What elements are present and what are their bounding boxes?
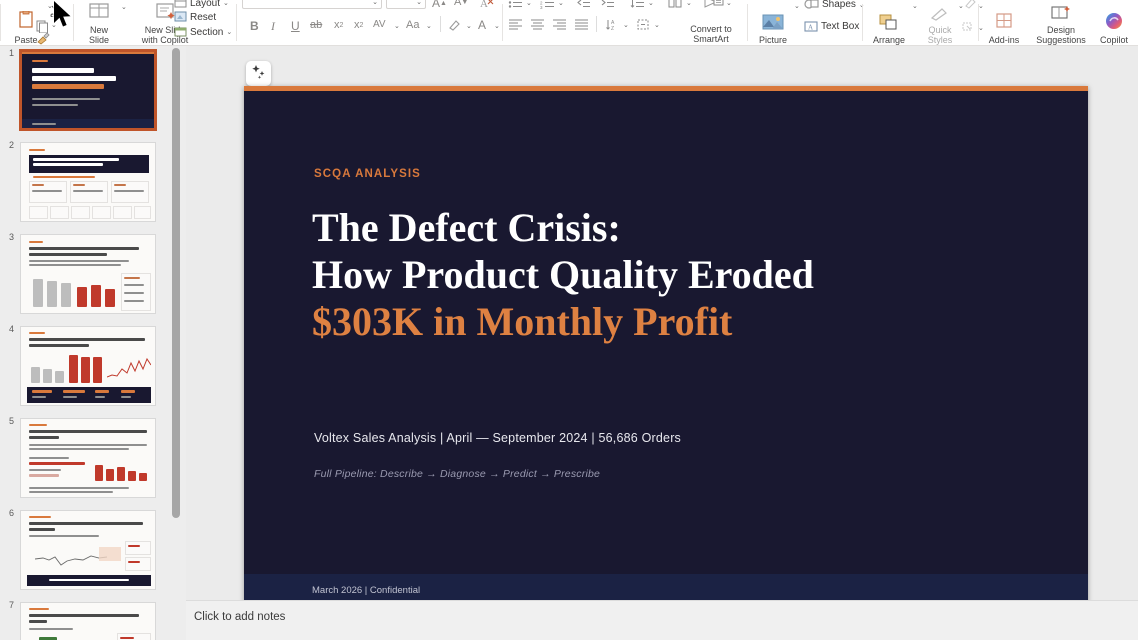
ribbon-separator [862, 4, 863, 41]
new-slide-label-1: New [90, 25, 108, 35]
thumbnail-row[interactable]: 5 [0, 414, 186, 506]
svg-text:A: A [480, 0, 488, 10]
headline-line-2: How Product Quality Eroded [312, 251, 1052, 298]
thumbnail-row[interactable]: 4 [0, 322, 186, 414]
new-slide-button[interactable]: New Slide [78, 0, 120, 45]
new-slide-copilot-icon [154, 3, 176, 23]
ribbon-group-font: ⌄ ⌄ A▲ A▼ A B I U ab x2 x2 AV ⌄ Aa ⌄ [242, 0, 498, 45]
notes-pane[interactable]: Click to add notes [186, 600, 1138, 640]
thumbnail-number: 1 [2, 48, 14, 58]
line-spacing-chevron-icon[interactable]: ⌄ [648, 0, 654, 7]
quick-styles-icon [929, 6, 951, 23]
new-slide-chevron-icon[interactable]: ⌄ [121, 3, 127, 11]
section-label: Section [190, 27, 223, 38]
ribbon-group-designer: Design Suggestions [1032, 0, 1138, 45]
shapes-icon [804, 0, 819, 11]
decrease-indent-icon[interactable] [576, 0, 591, 9]
ribbon-separator [502, 4, 503, 41]
strikethrough-button[interactable]: ab [310, 19, 322, 31]
italic-button[interactable]: I [271, 19, 275, 34]
svg-text:3: 3 [540, 5, 543, 9]
layout-chevron-icon[interactable]: ⌄ [223, 0, 229, 7]
font-color-chevron-icon[interactable]: ⌄ [494, 22, 500, 30]
picture-button[interactable]: Picture [754, 0, 792, 45]
convert-to-smartart-button[interactable]: Convert to SmartArt [678, 12, 744, 44]
sort-icon[interactable]: AZ [605, 18, 620, 31]
cut-icon[interactable] [50, 5, 62, 17]
notes-placeholder: Click to add notes [194, 611, 285, 623]
ribbon-group-drawing: Arrange ⌄ Quick Styles ⌄ ⌄ ⌄ [868, 0, 978, 45]
copilot-label: Copilot [1100, 35, 1128, 45]
thumbnail-row[interactable]: 2 [0, 138, 186, 230]
add-ins-label: Add-ins [989, 35, 1020, 45]
thumbnail-row[interactable]: 1 [0, 46, 186, 138]
add-ins-icon [994, 13, 1014, 33]
thumbnail-content [21, 419, 155, 497]
quick-styles-label-2: Styles [928, 35, 953, 45]
slide-footer-text: March 2026 | Confidential [312, 585, 420, 596]
arrange-icon [878, 14, 900, 33]
increase-indent-icon[interactable] [600, 0, 615, 9]
svg-text:A: A [808, 24, 813, 32]
slide-headline[interactable]: The Defect Crisis: How Product Quality E… [312, 204, 1052, 345]
layout-label: Layout [190, 0, 220, 9]
slide-thumbnail-3[interactable] [20, 234, 156, 314]
section-icon [174, 26, 187, 38]
align-text-chevron-icon[interactable]: ⌄ [654, 21, 660, 29]
designer-sparkle-icon [251, 64, 266, 84]
bold-button[interactable]: B [250, 19, 259, 33]
thumbnail-number: 5 [2, 416, 14, 426]
highlighter-icon[interactable] [448, 18, 462, 31]
ribbon-group-clipboard: Paste ⌄ ⌄ [0, 0, 70, 45]
quick-styles-label-1: Quick [928, 25, 951, 35]
design-suggestions-label-1: Design [1047, 25, 1075, 35]
highlight-chevron-icon[interactable]: ⌄ [466, 22, 472, 30]
ribbon-separator [0, 4, 1, 41]
slide-thumbnail-7[interactable] [20, 602, 156, 640]
align-right-icon[interactable] [552, 18, 567, 31]
thumbnail-number: 4 [2, 324, 14, 334]
thumbnail-number: 6 [2, 508, 14, 518]
ribbon-separator [747, 4, 748, 41]
thumbnail-content [21, 511, 155, 589]
convert-smartart-label-2: SmartArt [693, 34, 729, 44]
slide-thumbnail-pane[interactable]: 1 2 [0, 46, 186, 640]
headline-line-1: The Defect Crisis: [312, 204, 1052, 251]
slide-thumbnail-5[interactable] [20, 418, 156, 498]
arrange-button[interactable]: Arrange [868, 0, 910, 45]
thumbnail-content [21, 235, 155, 313]
slide-thumbnail-4[interactable] [20, 326, 156, 406]
thumbnail-content [22, 52, 154, 128]
paste-icon [16, 11, 36, 33]
ribbon-separator [978, 4, 979, 41]
reset-label: Reset [190, 12, 216, 23]
shape-effects-icon[interactable] [961, 21, 975, 33]
thumbnail-row[interactable]: 6 [0, 506, 186, 598]
quick-styles-button[interactable]: Quick Styles [920, 0, 960, 45]
designer-sparkle-button[interactable] [246, 61, 271, 86]
line-spacing-icon[interactable] [630, 0, 645, 9]
shapes-button[interactable]: Shapes ⌄ [804, 0, 865, 11]
align-left-icon[interactable] [508, 18, 523, 31]
text-box-button[interactable]: A Text Box [804, 20, 859, 33]
thumbnail-number: 7 [2, 600, 14, 610]
text-box-label: Text Box [821, 21, 859, 32]
copilot-button[interactable]: Copilot [1092, 0, 1136, 45]
numbering-chevron-icon[interactable]: ⌄ [558, 0, 564, 7]
text-direction-icon[interactable] [704, 0, 724, 10]
copy-icon[interactable] [36, 20, 49, 33]
text-direction-chevron-icon[interactable]: ⌄ [726, 0, 732, 7]
thumbnail-row[interactable]: 7 [0, 598, 186, 640]
slide-thumbnail-2[interactable] [20, 142, 156, 222]
slide-pipeline: Full Pipeline: Describe → Diagnose → Pre… [314, 468, 600, 480]
reset-icon [174, 11, 187, 23]
font-name-chevron-icon[interactable]: ⌄ [372, 0, 378, 6]
ribbon-separator [236, 4, 237, 41]
convert-smartart-label-1: Convert to [690, 24, 732, 34]
thumbnail-number: 2 [2, 140, 14, 150]
bullets-chevron-icon[interactable]: ⌄ [526, 0, 532, 7]
shrink-font-icon[interactable]: A▼ [454, 0, 468, 8]
font-size-chevron-icon[interactable]: ⌄ [416, 0, 422, 6]
design-suggestions-icon [1050, 5, 1072, 23]
layout-icon [174, 0, 187, 9]
thumbnail-number: 3 [2, 232, 14, 242]
slide-edit-pane: SCQA ANALYSIS The Defect Crisis: How Pro… [186, 46, 1138, 600]
svg-text:Z: Z [611, 26, 614, 31]
picture-chevron-icon[interactable]: ⌄ [794, 2, 800, 10]
clear-formatting-icon[interactable]: A [480, 0, 495, 10]
sort-chevron-icon[interactable]: ⌄ [623, 21, 629, 29]
grow-font-icon[interactable]: A▲ [432, 0, 447, 10]
design-suggestions-button[interactable]: Design Suggestions [1032, 0, 1090, 45]
ribbon-toolbar: Paste ⌄ ⌄ [0, 0, 1138, 46]
ribbon-separator [73, 4, 74, 41]
shapes-label: Shapes [822, 0, 856, 10]
paste-label: Paste [14, 35, 37, 45]
headline-line-3: $303K in Monthly Profit [312, 298, 1052, 345]
font-size-input[interactable]: ⌄ [386, 0, 426, 9]
shape-fill-chevron-icon[interactable]: ⌄ [958, 2, 964, 10]
text-box-icon: A [804, 20, 818, 33]
font-color-button[interactable]: A [478, 18, 486, 32]
subscript-button[interactable]: x2 [354, 19, 363, 31]
change-case-button[interactable]: Aa [406, 19, 419, 31]
slide-eyebrow: SCQA ANALYSIS [314, 168, 421, 180]
numbered-list-icon[interactable]: 123 [540, 0, 555, 9]
copy-chevron-icon[interactable]: ⌄ [51, 21, 57, 29]
reset-button[interactable]: Reset [174, 11, 216, 23]
copilot-icon [1103, 11, 1125, 33]
character-spacing-chevron-icon[interactable]: ⌄ [394, 22, 400, 30]
superscript-button[interactable]: x2 [334, 19, 343, 31]
align-text-icon[interactable] [636, 18, 651, 31]
slide-thumbnail-6[interactable] [20, 510, 156, 590]
format-painter-icon[interactable] [36, 33, 50, 45]
underline-button[interactable]: U [291, 19, 300, 33]
thumbnail-content [21, 603, 155, 640]
shape-outline-icon[interactable] [964, 0, 977, 9]
change-case-chevron-icon[interactable]: ⌄ [426, 22, 432, 30]
align-center-icon[interactable] [530, 18, 545, 31]
slide-thumbnail-1[interactable] [20, 50, 156, 130]
columns-chevron-icon[interactable]: ⌄ [686, 0, 692, 7]
layout-button[interactable]: Layout ⌄ [174, 0, 229, 9]
new-slide-icon [88, 3, 110, 23]
bullet-list-icon[interactable] [508, 0, 523, 9]
new-slide-label-2: Slide [89, 35, 109, 45]
arrange-chevron-icon[interactable]: ⌄ [912, 2, 918, 10]
picture-label: Picture [759, 35, 787, 45]
thumbnail-content [21, 327, 155, 405]
section-chevron-icon[interactable]: ⌄ [226, 28, 232, 36]
design-suggestions-label-2: Suggestions [1036, 35, 1086, 45]
slide-canvas[interactable]: SCQA ANALYSIS The Defect Crisis: How Pro… [244, 86, 1088, 610]
ribbon-group-addins: Add-ins [982, 0, 1026, 45]
ribbon-group-paragraph: ⌄ 123 ⌄ ⌄ ⌄ ⌄ [508, 0, 748, 45]
slide-meta: Voltex Sales Analysis | April — Septembe… [314, 431, 681, 445]
thumbnail-row[interactable]: 3 [0, 230, 186, 322]
section-button[interactable]: Section ⌄ [174, 26, 232, 38]
add-ins-button[interactable]: Add-ins [982, 0, 1026, 45]
picture-icon [762, 14, 784, 33]
powerpoint-window: Paste ⌄ ⌄ [0, 0, 1138, 640]
columns-icon[interactable] [668, 0, 683, 9]
font-name-input[interactable]: ⌄ [242, 0, 382, 9]
thumbnail-content [21, 143, 155, 221]
arrange-label: Arrange [873, 35, 905, 45]
slide-accent-bar [244, 86, 1088, 91]
ribbon-group-insert: Picture ⌄ Shapes ⌄ A Text Box [754, 0, 864, 45]
ribbon-group-slides: New Slide ⌄ New Slide with Copilot [78, 0, 228, 45]
justify-icon[interactable] [574, 18, 589, 31]
character-spacing-button[interactable]: AV [373, 19, 386, 30]
